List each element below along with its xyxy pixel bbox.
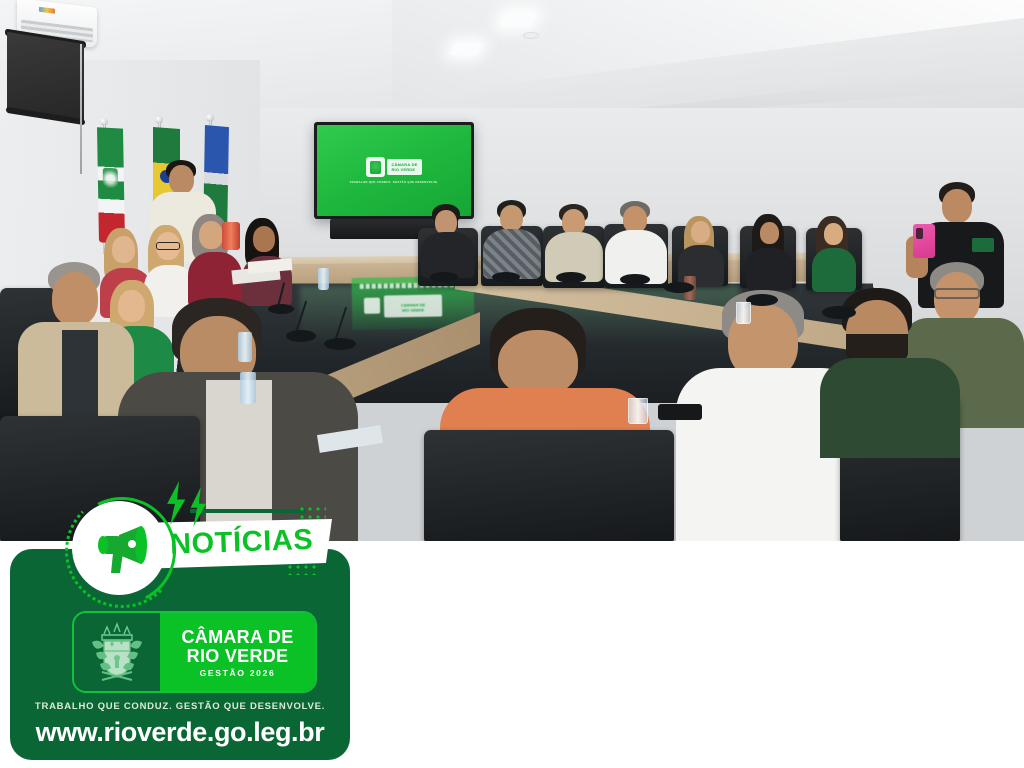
microphone	[822, 306, 856, 319]
head	[623, 206, 647, 233]
flag-crest-icon	[103, 168, 118, 191]
ceiling-light	[450, 43, 483, 55]
water-bottle	[240, 372, 256, 404]
screen-logo-text: CÂMARA DE RIO VERDE	[387, 159, 421, 175]
megaphone-icon	[89, 523, 151, 575]
logo-line-2: RIO VERDE	[187, 647, 289, 665]
head	[118, 290, 145, 322]
microphone	[430, 272, 458, 282]
microphone	[324, 338, 356, 350]
logo-gestao: GESTÃO 2026	[200, 668, 276, 678]
microphone	[268, 304, 294, 314]
microphone	[664, 282, 694, 293]
shirt	[62, 330, 98, 430]
tablet-device	[658, 404, 702, 420]
water-bottle	[318, 268, 329, 290]
head	[52, 272, 98, 326]
head	[500, 205, 523, 231]
presentation-screen-content: CÂMARA DE RIO VERDE TRABALHO QUE CONDUZ.…	[317, 125, 471, 216]
eyeglasses	[934, 288, 980, 299]
torso	[812, 248, 856, 292]
head	[691, 221, 710, 243]
reflection-logo-text: RIO VERDE CÂMARA DE	[384, 294, 442, 317]
head	[824, 223, 843, 245]
screen-logo-line2: RIO VERDE	[391, 167, 417, 172]
screen-tagline: TRABALHO QUE CONDUZ. GESTÃO QUE DESENVOL…	[350, 180, 439, 184]
air-conditioner-led	[39, 7, 55, 14]
microphone	[556, 272, 586, 283]
coat-of-arms-cell	[74, 613, 160, 691]
head	[942, 189, 972, 223]
meeting-photo: CÂMARA DE RIO VERDE TRABALHO QUE CONDUZ.…	[0, 0, 1024, 541]
torso	[421, 232, 475, 278]
window-blind-chain	[80, 44, 82, 174]
head	[253, 226, 275, 252]
noticias-badge: NOTÍCIAS	[72, 501, 332, 605]
head	[199, 221, 223, 249]
screen-logo-lockup: CÂMARA DE RIO VERDE	[366, 157, 421, 177]
ceiling-spotlight	[523, 32, 539, 39]
logo-line-1: CÂMARA DE	[181, 628, 293, 646]
torso	[820, 358, 960, 458]
torso	[746, 248, 792, 290]
ceiling-light	[499, 12, 537, 26]
head	[760, 222, 779, 244]
badge-decor-line	[190, 509, 306, 513]
camara-logo-text: CÂMARA DE RIO VERDE GESTÃO 2026	[160, 613, 315, 691]
badge-label: NOTÍCIAS	[169, 523, 330, 562]
water-bottle	[238, 332, 252, 362]
badge-decor-dots	[286, 563, 316, 575]
microphone	[492, 272, 520, 282]
microphone	[286, 330, 316, 342]
coat-of-arms-icon	[86, 620, 148, 684]
slogan-text: TRABALHO QUE CONDUZ. GESTÃO QUE DESENVOL…	[10, 701, 350, 712]
flag-rio-verde	[97, 127, 125, 243]
badge-decor-dots	[298, 505, 326, 521]
head	[498, 330, 578, 396]
news-banner-bar: NOTÍCIAS	[0, 541, 1024, 768]
chair	[424, 430, 674, 541]
eyeglasses	[156, 242, 180, 250]
drinking-glass	[736, 302, 751, 324]
water-bottle	[222, 222, 240, 250]
shirt-logo-patch	[972, 238, 994, 252]
head	[112, 236, 135, 263]
phone-camera-icon	[916, 228, 923, 239]
screen-crest-shield	[370, 161, 381, 174]
head	[169, 165, 194, 194]
screen-coat-of-arms-icon	[366, 157, 385, 177]
camara-logo: CÂMARA DE RIO VERDE GESTÃO 2026	[72, 611, 317, 693]
drinking-glass	[628, 398, 648, 424]
branding-panel: NOTÍCIAS	[10, 549, 350, 760]
website-url[interactable]: www.rioverde.go.leg.br	[10, 717, 350, 748]
reflection-crest-icon	[364, 298, 380, 314]
news-card: CÂMARA DE RIO VERDE TRABALHO QUE CONDUZ.…	[0, 0, 1024, 768]
microphone	[620, 274, 650, 285]
